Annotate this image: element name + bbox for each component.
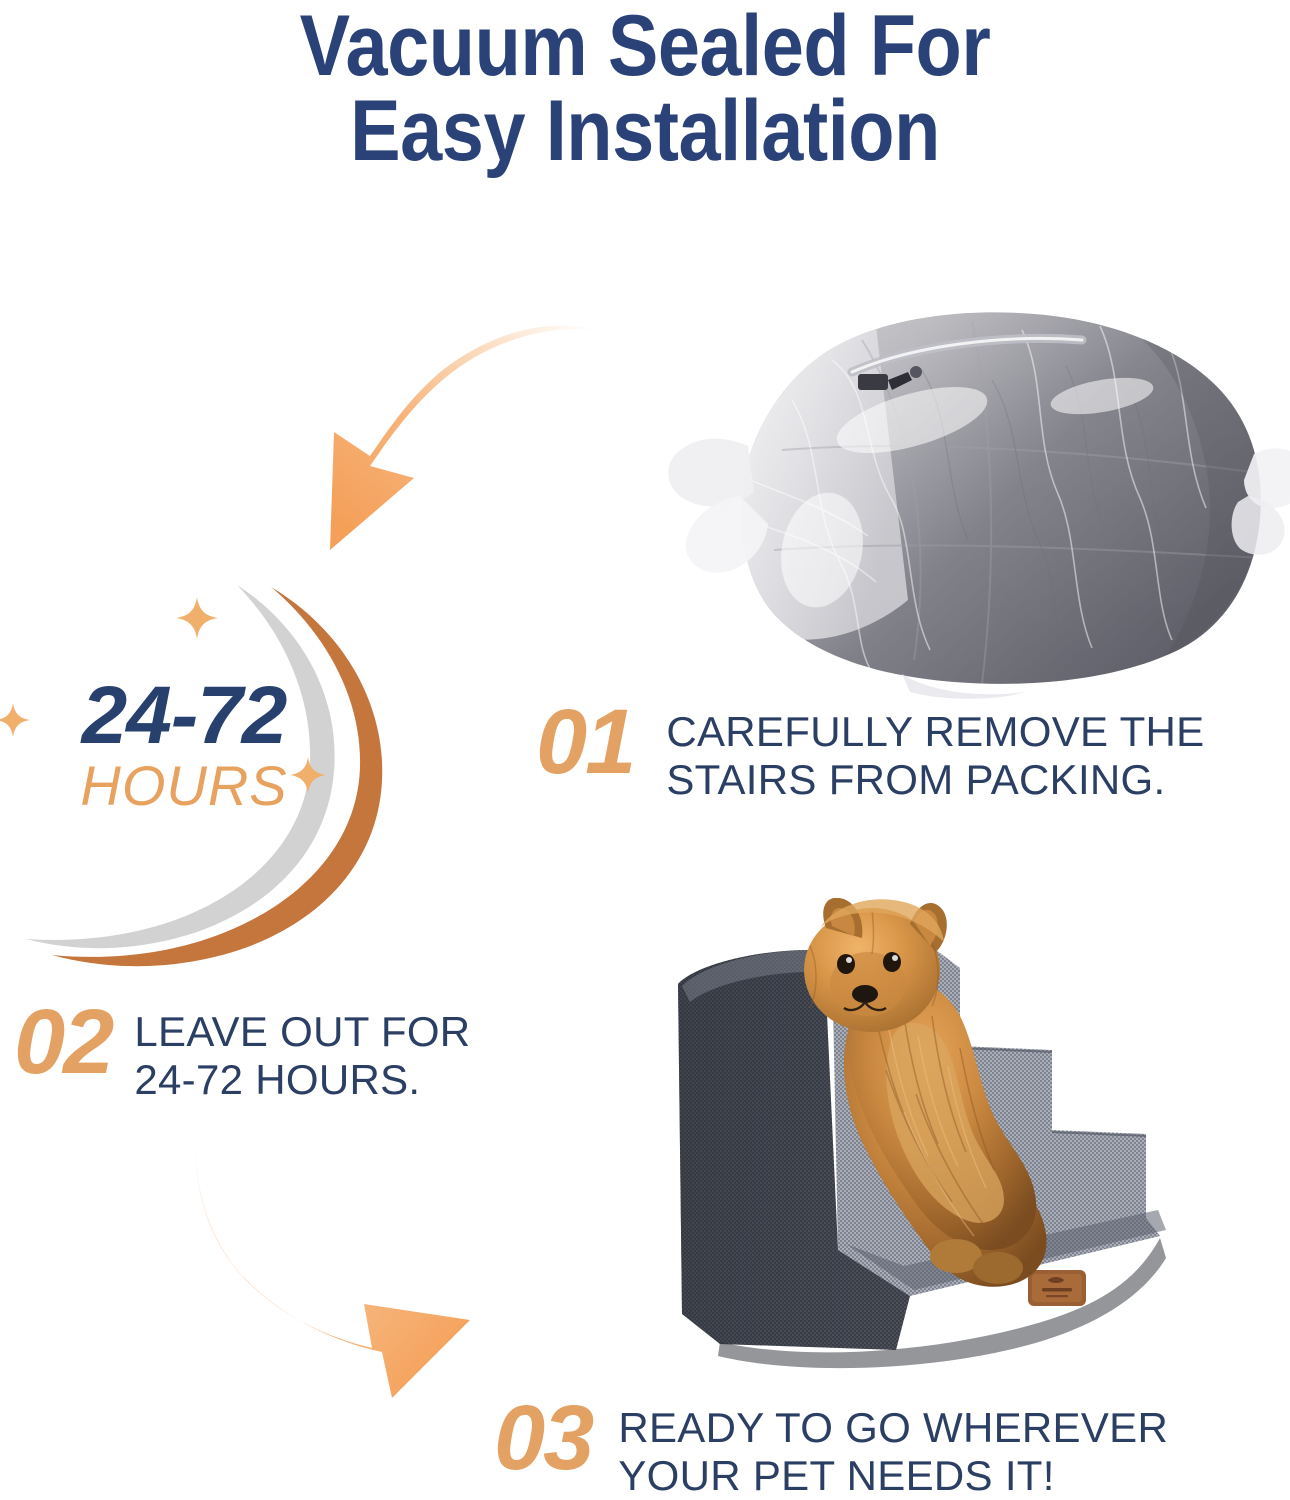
page-title: Vacuum Sealed For Easy Installation — [77, 4, 1212, 174]
sparkle-star-icon — [176, 597, 218, 639]
step-02-line-2: 24-72 HOURS. — [134, 1056, 470, 1104]
step-01-line-2: STAIRS FROM PACKING. — [666, 756, 1204, 804]
sparkle-star-icon — [0, 703, 30, 737]
step-01-text: CAREFULLY REMOVE THE STAIRS FROM PACKING… — [666, 700, 1204, 804]
pet-stairs-photo — [660, 898, 1290, 1378]
step-02-text: LEAVE OUT FOR 24-72 HOURS. — [134, 1000, 470, 1104]
hours-badge: 24-72 HOURS — [0, 585, 440, 975]
step-01-number: 01 — [536, 700, 634, 785]
vacuum-pack-photo — [662, 300, 1290, 700]
hours-badge-text: 24-72 HOURS — [34, 677, 334, 816]
page-title-line-2: Easy Installation — [77, 89, 1212, 174]
step-01: 01 CAREFULLY REMOVE THE STAIRS FROM PACK… — [536, 700, 1204, 804]
step-01-line-1: CAREFULLY REMOVE THE — [666, 708, 1204, 756]
step-02-number: 02 — [14, 1000, 112, 1085]
step-03: 03 READY TO GO WHEREVER YOUR PET NEEDS I… — [494, 1396, 1168, 1500]
page-title-line-1: Vacuum Sealed For — [300, 0, 991, 94]
step-03-line-2: YOUR PET NEEDS IT! — [618, 1452, 1168, 1500]
hours-badge-number: 24-72 — [34, 677, 334, 755]
curved-arrow-down-right-icon — [186, 1128, 526, 1398]
brand-tag — [1028, 1270, 1086, 1306]
step-03-text: READY TO GO WHEREVER YOUR PET NEEDS IT! — [618, 1396, 1168, 1500]
hours-badge-unit: HOURS — [34, 757, 334, 816]
step-02: 02 LEAVE OUT FOR 24-72 HOURS. — [14, 1000, 470, 1104]
step-03-line-1: READY TO GO WHEREVER — [618, 1404, 1168, 1452]
step-03-number: 03 — [494, 1396, 592, 1481]
curved-arrow-down-left-icon — [296, 318, 606, 578]
step-02-line-1: LEAVE OUT FOR — [134, 1008, 470, 1056]
